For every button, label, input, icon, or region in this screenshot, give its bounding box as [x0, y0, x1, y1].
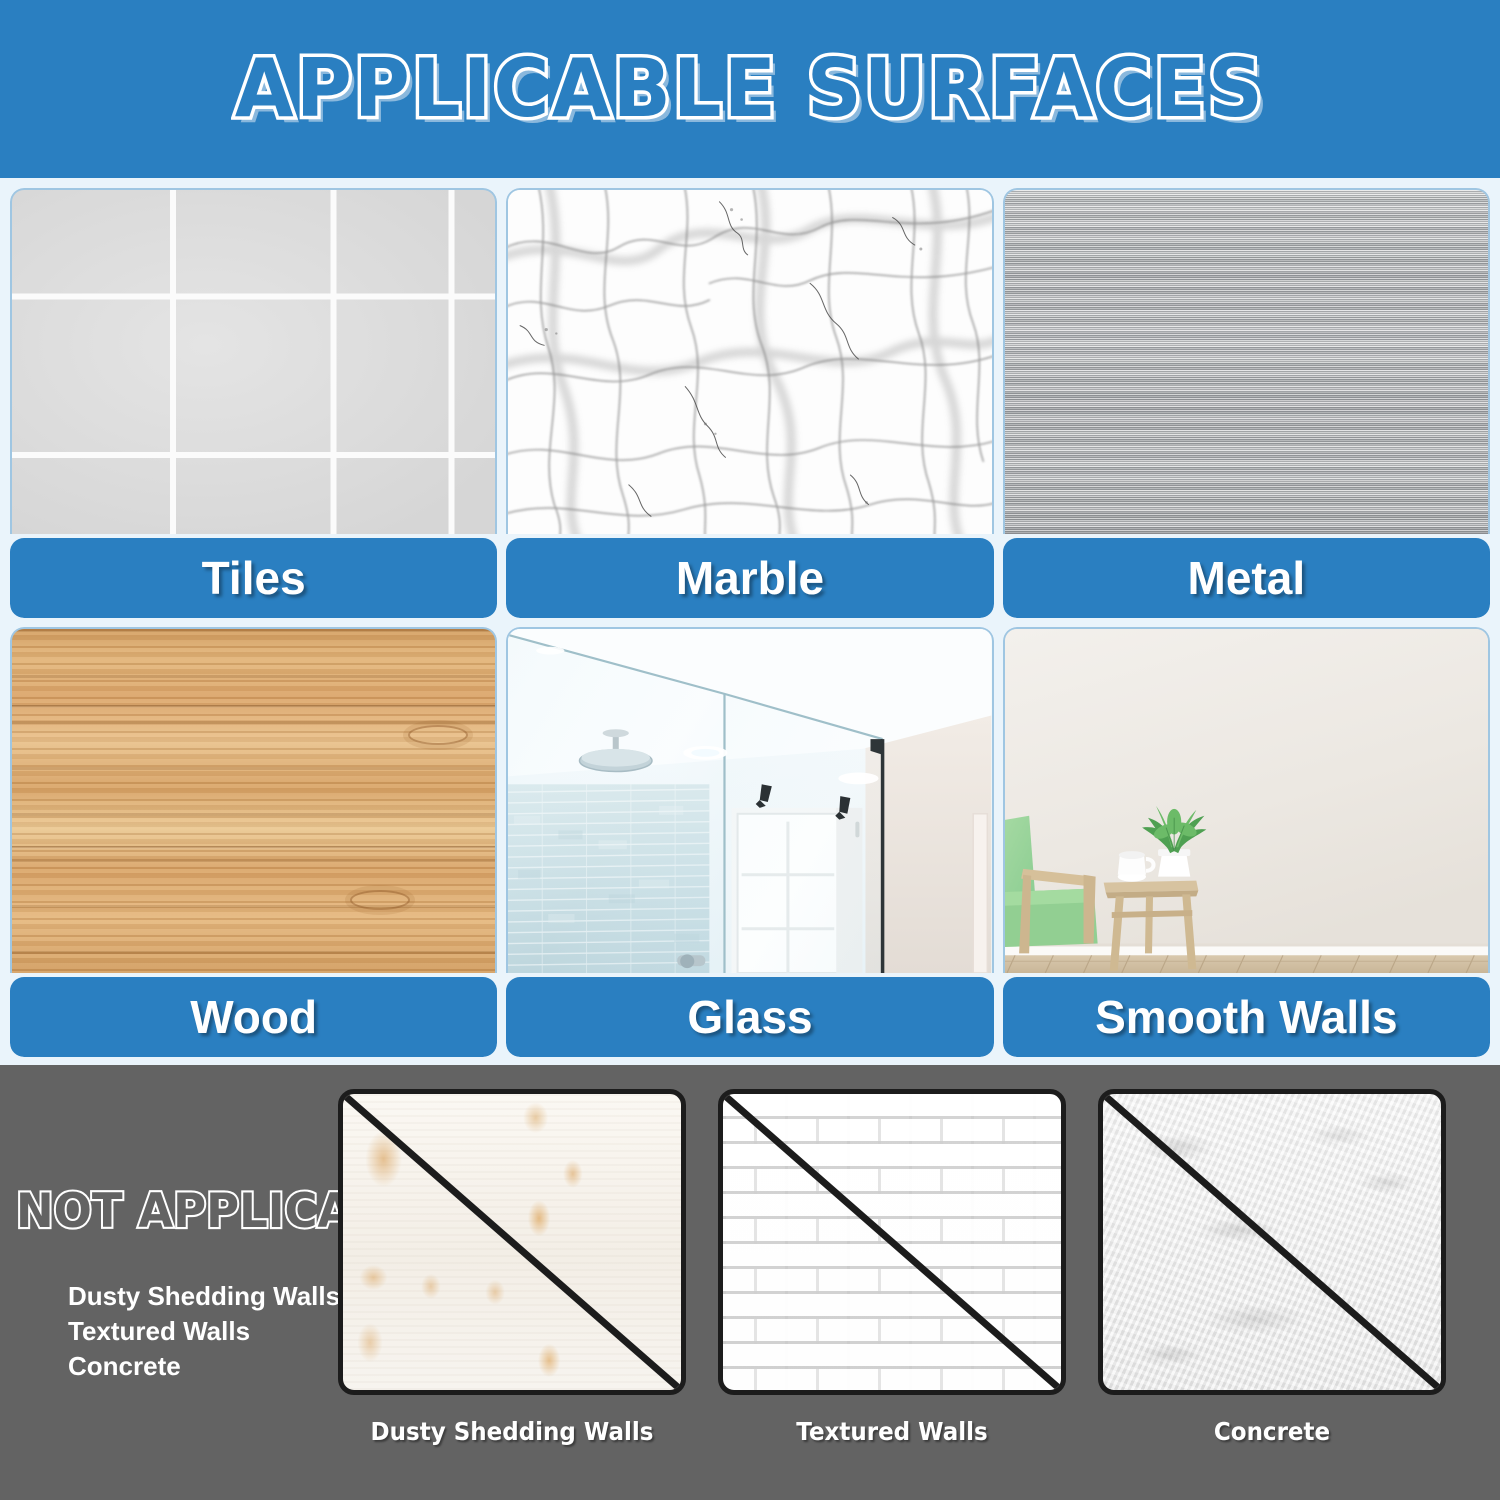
- not-applicable-cards: Dusty Shedding Walls Textured Walls: [330, 1089, 1500, 1446]
- surface-card-glass[interactable]: Glass: [506, 627, 993, 1057]
- brick-wall-swatch: [718, 1089, 1066, 1395]
- not-applicable-caption: Dusty Shedding Walls: [352, 1417, 672, 1446]
- glass-photo-swatch: [506, 627, 993, 973]
- surface-card-wood[interactable]: Wood: [10, 627, 497, 1057]
- surface-card-marble[interactable]: Marble: [506, 188, 993, 618]
- not-applicable-list-item: Textured Walls: [68, 1314, 330, 1349]
- surface-label: Smooth Walls: [1095, 990, 1397, 1044]
- surface-card-metal[interactable]: Metal: [1003, 188, 1490, 618]
- not-applicable-text-block: NOT APPLICABLE Dusty Shedding Walls Text…: [0, 1089, 330, 1383]
- surface-grid: Tiles: [10, 188, 1490, 1057]
- smooth-walls-label-bar: Smooth Walls: [1003, 977, 1490, 1057]
- surface-card-smooth-walls[interactable]: Smooth Walls: [1003, 627, 1490, 1057]
- wood-label-bar: Wood: [10, 977, 497, 1057]
- metal-label-bar: Metal: [1003, 538, 1490, 618]
- surface-label: Glass: [687, 990, 812, 1044]
- surface-card-tiles[interactable]: Tiles: [10, 188, 497, 618]
- surface-label: Metal: [1188, 551, 1306, 605]
- surface-label: Tiles: [202, 551, 306, 605]
- tiles-label-bar: Tiles: [10, 538, 497, 618]
- metal-texture-swatch: [1003, 188, 1490, 534]
- cross-out-slash-icon: [343, 1094, 681, 1390]
- marble-label-bar: Marble: [506, 538, 993, 618]
- not-applicable-caption: Concrete: [1112, 1417, 1432, 1446]
- not-applicable-card-dusty[interactable]: Dusty Shedding Walls: [338, 1089, 686, 1446]
- dusty-wall-swatch: [338, 1089, 686, 1395]
- cross-out-slash-icon: [1103, 1094, 1441, 1390]
- not-applicable-card-textured[interactable]: Textured Walls: [718, 1089, 1066, 1446]
- concrete-wall-swatch: [1098, 1089, 1446, 1395]
- smooth-walls-photo-swatch: [1003, 627, 1490, 973]
- not-applicable-section: NOT APPLICABLE Dusty Shedding Walls Text…: [0, 1065, 1500, 1500]
- page-title: APPLICABLE SURFACES: [235, 42, 1265, 135]
- applicable-surfaces-section: Tiles: [0, 178, 1500, 1065]
- surface-label: Wood: [190, 990, 317, 1044]
- marble-texture-swatch: [506, 188, 993, 534]
- not-applicable-caption: Textured Walls: [732, 1417, 1052, 1446]
- wood-texture-swatch: [10, 627, 497, 973]
- not-applicable-list-item: Concrete: [68, 1349, 330, 1384]
- glass-label-bar: Glass: [506, 977, 993, 1057]
- not-applicable-card-concrete[interactable]: Concrete: [1098, 1089, 1446, 1446]
- not-applicable-list: Dusty Shedding Walls Textured Walls Conc…: [16, 1279, 330, 1383]
- header-banner: APPLICABLE SURFACES: [0, 0, 1500, 178]
- surface-label: Marble: [676, 551, 824, 605]
- tiles-texture-swatch: [10, 188, 497, 534]
- not-applicable-list-item: Dusty Shedding Walls: [68, 1279, 330, 1314]
- not-applicable-title: NOT APPLICABLE: [16, 1183, 330, 1239]
